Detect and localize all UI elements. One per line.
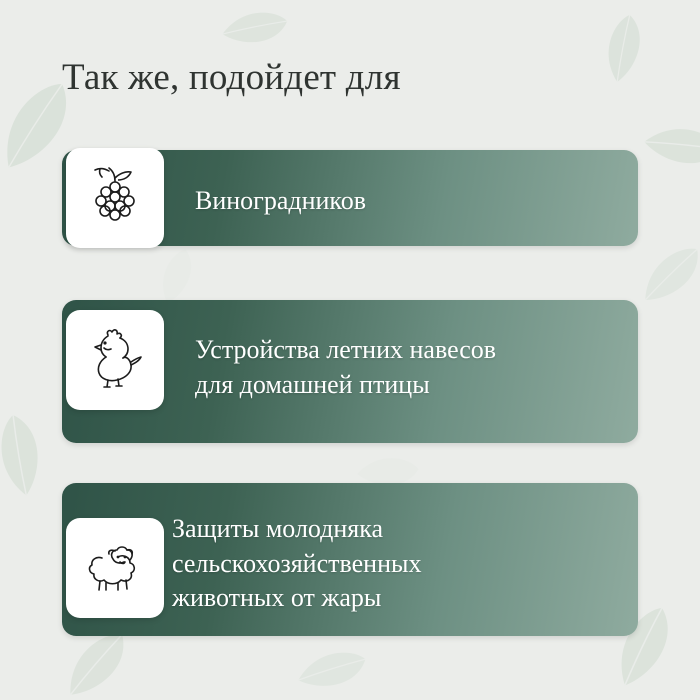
leaf-icon — [220, 0, 290, 56]
chicken-icon — [86, 327, 144, 394]
leaf-icon — [145, 245, 208, 307]
card-label-young-livestock: Защиты молодняка сельскохозяйственных жи… — [172, 512, 421, 616]
card-label-vineyards: Виноградников — [195, 186, 366, 216]
sheep-icon-container — [66, 518, 164, 618]
leaf-icon — [296, 642, 367, 696]
page-title: Так же, подойдет для — [62, 56, 401, 99]
grapes-icon — [87, 165, 143, 232]
leaf-icon — [0, 412, 55, 499]
chicken-icon-container — [66, 310, 164, 410]
leaf-icon — [54, 629, 138, 699]
grapes-icon-container — [66, 148, 164, 248]
poster-page: Так же, подойдет для Виноградников — [0, 0, 700, 700]
leaf-icon — [633, 244, 700, 304]
sheep-icon — [84, 538, 146, 599]
leaf-icon — [641, 106, 700, 184]
card-label-poultry-canopies: Устройства летних навесов для домашней п… — [195, 333, 496, 402]
leaf-icon — [586, 10, 660, 86]
